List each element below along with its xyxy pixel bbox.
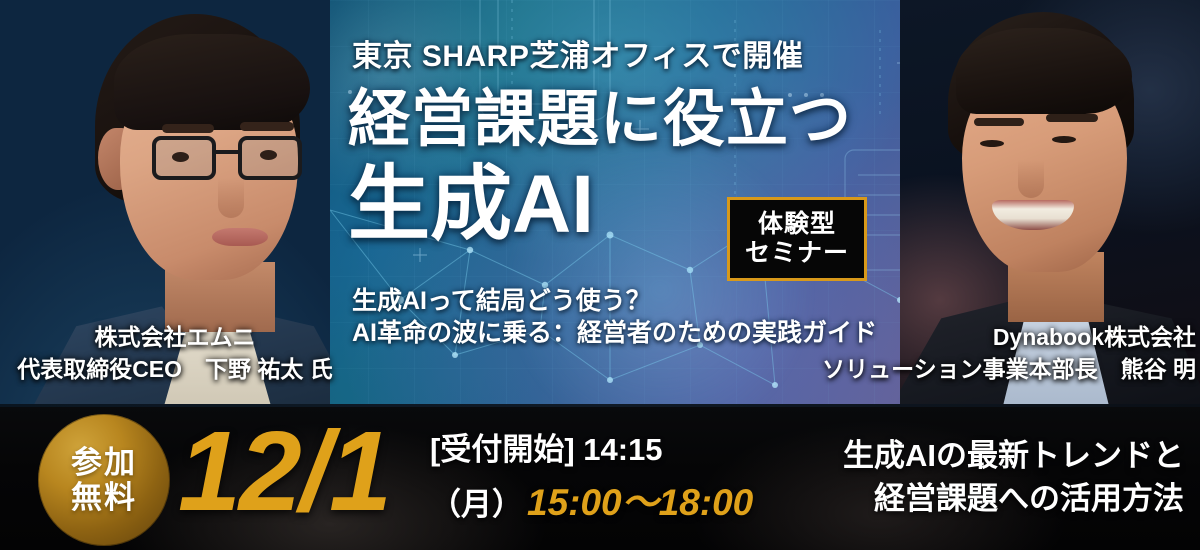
session-topic-line-1: 生成AIの最新トレンドと [724,434,1184,477]
seminar-type-badge: 体験型 セミナー [727,197,867,281]
free-admission-badge: 参加 無料 [38,414,170,546]
badge-line-1: 体験型 [758,210,836,240]
badge-line-2: セミナー [745,239,849,269]
free-badge-line-2: 無料 [71,481,137,514]
event-date: 12/1 [178,415,390,528]
free-badge-line-1: 参加 [71,446,137,479]
session-time-range: 15:00〜18:00 [527,472,753,526]
session-topic-line-2: 経営課題への活用方法 [724,477,1184,520]
speaker-left-company: 株式会社エムニ [0,322,350,354]
banner-main-area: 東京 SHARP芝浦オフィスで開催 経営課題に役立つ 生成AI 体験型 セミナー… [0,0,1200,404]
seminar-banner: 東京 SHARP芝浦オフィスで開催 経営課題に役立つ 生成AI 体験型 セミナー… [0,0,1200,550]
speaker-right-company: Dynabook株式会社 [756,322,1196,354]
speaker-left-caption: 株式会社エムニ 代表取締役CEO 下野 祐太 氏 [0,322,350,385]
reception-time-label: [受付開始] 14:15 [430,432,753,469]
headline-line-2: 生成AI [348,164,594,246]
headline-line-1: 経営課題に役立つ [348,88,852,151]
session-topic: 生成AIの最新トレンドと 経営課題への活用方法 [724,434,1184,521]
event-time-block: [受付開始] 14:15 （月） 15:00〜18:00 [430,432,753,526]
event-location-label: 東京 SHARP芝浦オフィスで開催 [352,31,892,75]
day-of-week-label: （月） [430,479,523,524]
subtitle-line-1: 生成AIって結局どう使う？ [352,281,651,317]
speaker-right-caption: Dynabook株式会社 ソリューション事業本部長 熊谷 明 [756,322,1196,385]
bar-divider [0,404,1200,407]
speaker-right-name: ソリューション事業本部長 熊谷 明 [756,354,1196,386]
speaker-left-name: 代表取締役CEO 下野 祐太 氏 [0,354,350,386]
